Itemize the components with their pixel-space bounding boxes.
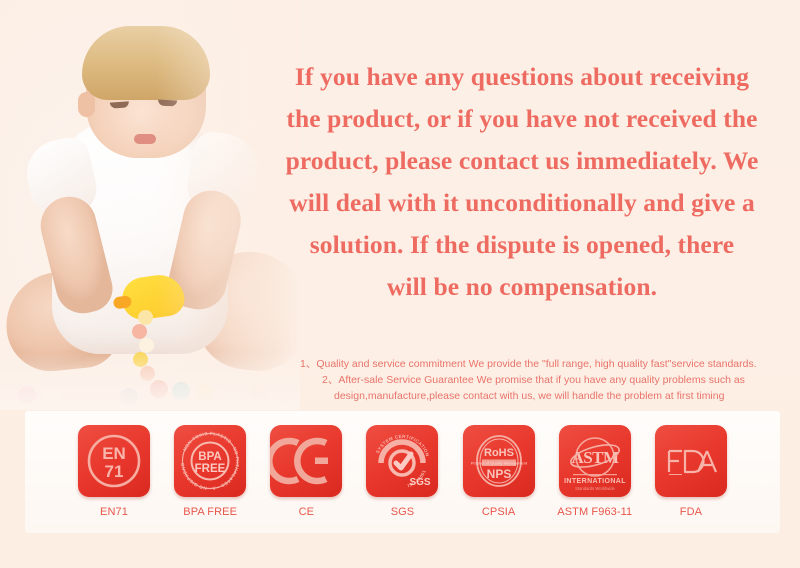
svg-text:BPA: BPA — [198, 451, 221, 463]
bpa-free-icon: NON-TOXIC PLASTIC • NO PHTHALATES • A • … — [174, 425, 246, 497]
ce-icon — [270, 425, 342, 497]
certification-item-astm: ASTM INTERNATIONAL Standards Worldwide A… — [552, 425, 638, 518]
certification-label: FDA — [648, 506, 734, 518]
service-term-line: 2、After-sale Service Guarantee We promis… — [300, 372, 796, 388]
svg-text:FREE: FREE — [195, 463, 226, 475]
certification-panel: EN 71 EN71 NON-TOXIC PLASTIC • NO PHTHA — [25, 411, 780, 533]
certification-item-cpsia: RoHS Product of Quality Management NPS C… — [456, 425, 542, 518]
fda-icon — [655, 425, 727, 497]
certification-item-bpa-free: NON-TOXIC PLASTIC • NO PHTHALATES • A • … — [167, 425, 253, 518]
headline-line: will be no compensation. — [248, 266, 796, 308]
certification-item-ce: CE — [263, 425, 349, 518]
certification-item-en71: EN 71 EN71 — [71, 425, 157, 518]
certification-label: CE — [263, 506, 349, 518]
certification-row: EN 71 EN71 NON-TOXIC PLASTIC • NO PHTHA — [25, 411, 780, 518]
certification-label: BPA FREE — [167, 506, 253, 518]
headline-line: the product, or if you have not received… — [248, 98, 796, 140]
svg-text:ASTM: ASTM — [571, 448, 619, 467]
certification-label: EN71 — [71, 506, 157, 518]
headline-line: solution. If the dispute is opened, ther… — [248, 224, 796, 266]
certification-label: SGS — [359, 506, 445, 518]
svg-text:INTERNATIONAL: INTERNATIONAL — [564, 478, 626, 485]
svg-text:SGS: SGS — [410, 477, 431, 488]
service-term-line: 1、Quality and service commitment We prov… — [300, 356, 796, 372]
headline-text: If you have any questions about receivin… — [248, 56, 796, 308]
certification-item-fda: FDA — [648, 425, 734, 518]
svg-text:RoHS: RoHS — [484, 447, 514, 459]
certification-label: ASTM F963-11 — [552, 506, 638, 518]
photo-bottom-fade — [0, 352, 300, 410]
cpsia-icon: RoHS Product of Quality Management NPS — [463, 425, 535, 497]
svg-text:NPS: NPS — [486, 467, 511, 481]
headline-line: product, please contact us immediately. … — [248, 140, 796, 182]
astm-icon: ASTM INTERNATIONAL Standards Worldwide — [559, 425, 631, 497]
certification-item-sgs: SYSTEM CERTIFICATION ISO 14001 SGS SGS — [359, 425, 445, 518]
headline-line: will deal with it unconditionally and gi… — [248, 182, 796, 224]
sgs-icon: SYSTEM CERTIFICATION ISO 14001 SGS — [366, 425, 438, 497]
product-guarantee-banner: If you have any questions about receivin… — [0, 0, 800, 568]
service-term-line: design,manufacture,please contact with u… — [300, 388, 796, 404]
svg-text:EN: EN — [102, 444, 126, 463]
svg-text:Product of Quality Management: Product of Quality Management — [470, 461, 527, 466]
service-terms-text: 1、Quality and service commitment We prov… — [300, 356, 796, 404]
svg-text:71: 71 — [105, 462, 124, 481]
en71-icon: EN 71 — [78, 425, 150, 497]
headline-line: If you have any questions about receivin… — [248, 56, 796, 98]
svg-text:Standards Worldwide: Standards Worldwide — [575, 486, 615, 491]
certification-label: CPSIA — [456, 506, 542, 518]
